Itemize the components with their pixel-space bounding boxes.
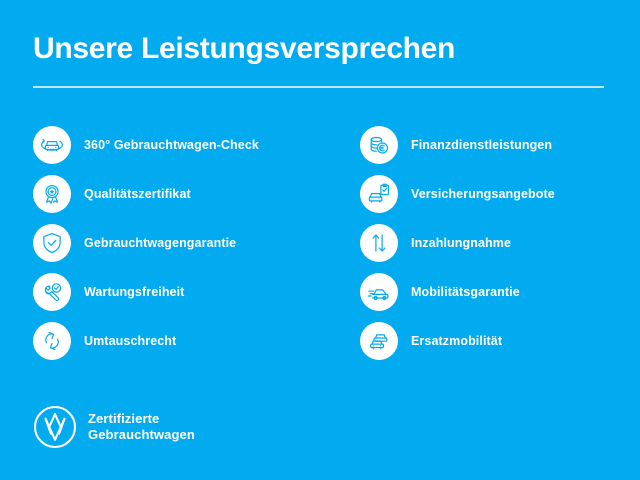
- benefits-left-column: 360° Gebrauchtwagen-Check Qualitätszerti…: [33, 126, 333, 371]
- benefit-label: Qualitätszertifikat: [84, 175, 191, 213]
- brand-text: Zertifizierte Gebrauchtwagen: [88, 411, 195, 443]
- benefit-item-mobility-guarantee[interactable]: Mobilitätsgarantie: [360, 273, 640, 322]
- brand-text-line-1: Zertifizierte: [88, 411, 195, 427]
- page-title: Unsere Leistungsversprechen: [33, 31, 455, 67]
- benefit-label: 360° Gebrauchtwagen-Check: [84, 126, 259, 164]
- up-down-arrows-icon: [360, 224, 398, 262]
- brand-lockup: Zertifizierte Gebrauchtwagen: [33, 405, 195, 449]
- shield-check-icon: [33, 224, 71, 262]
- benefit-label: Umtauschrecht: [84, 322, 176, 360]
- benefit-label: Wartungsfreiheit: [84, 273, 184, 311]
- car-clipboard-icon: [360, 175, 398, 213]
- title-divider: [33, 86, 604, 88]
- promise-panel: Unsere Leistungsversprechen: [0, 0, 640, 480]
- car-360-check-icon: [33, 126, 71, 164]
- two-cars-icon: [360, 322, 398, 360]
- benefit-item-maintenance-free[interactable]: Wartungsfreiheit: [33, 273, 333, 322]
- exchange-arrows-icon: [33, 322, 71, 360]
- benefit-item-360-check[interactable]: 360° Gebrauchtwagen-Check: [33, 126, 333, 175]
- benefit-label: Versicherungsangebote: [411, 175, 555, 213]
- award-rosette-icon: [33, 175, 71, 213]
- benefit-label: Ersatzmobilität: [411, 322, 502, 360]
- car-motion-icon: [360, 273, 398, 311]
- benefit-item-insurance-offers[interactable]: Versicherungsangebote: [360, 175, 640, 224]
- brand-text-line-2: Gebrauchtwagen: [88, 427, 195, 443]
- benefit-label: Mobilitätsgarantie: [411, 273, 520, 311]
- benefit-item-exchange-right[interactable]: Umtauschrecht: [33, 322, 333, 371]
- benefit-item-quality-certificate[interactable]: Qualitätszertifikat: [33, 175, 333, 224]
- benefits-section: 360° Gebrauchtwagen-Check Qualitätszerti…: [0, 126, 640, 366]
- benefit-label: Inzahlungnahme: [411, 224, 511, 262]
- benefit-label: Finanzdienstleistungen: [411, 126, 552, 164]
- benefit-label: Gebrauchtwagengarantie: [84, 224, 236, 262]
- benefit-item-replacement-mobility[interactable]: Ersatzmobilität: [360, 322, 640, 371]
- wrench-check-icon: [33, 273, 71, 311]
- vw-logo-icon: [33, 405, 77, 449]
- benefits-right-column: Finanzdienstleistungen: [360, 126, 640, 371]
- coins-euro-icon: [360, 126, 398, 164]
- benefit-item-trade-in[interactable]: Inzahlungnahme: [360, 224, 640, 273]
- benefit-item-financial-services[interactable]: Finanzdienstleistungen: [360, 126, 640, 175]
- benefit-item-warranty[interactable]: Gebrauchtwagengarantie: [33, 224, 333, 273]
